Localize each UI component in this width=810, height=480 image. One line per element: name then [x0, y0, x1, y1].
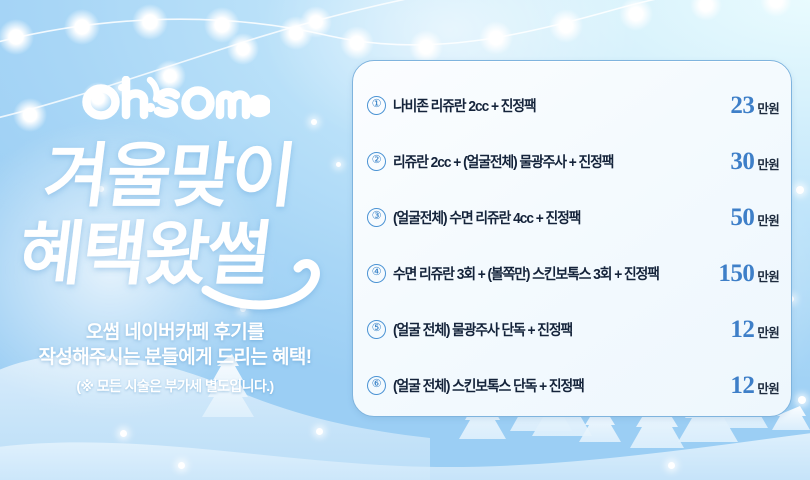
item-price-number: 50 — [730, 205, 754, 230]
item-price-unit: 만원 — [757, 210, 779, 229]
item-number-badge: ③ — [367, 208, 386, 227]
item-price-number: 12 — [730, 317, 754, 342]
promo-item-row[interactable]: ⑥ (얼굴 전체) 스킨보톡스 단독 + 진정팩 12 만원 — [367, 370, 779, 400]
item-price-unit: 만원 — [757, 154, 779, 173]
item-label: 수면 리쥬란 3회 + (볼쪽만) 스킨보톡스 3회 + 진정팩 — [393, 263, 696, 284]
item-price: 50 만원 — [730, 205, 779, 230]
brand-logo: Oh!some — [0, 76, 350, 124]
promo-item-row[interactable]: ① 나비존 리쥬란 2cc + 진정팩 23 만원 — [367, 90, 779, 120]
item-price-number: 23 — [730, 93, 754, 118]
promo-item-row[interactable]: ② 리쥬란 2cc + (얼굴전체) 물광주사 + 진정팩 30 만원 — [367, 146, 779, 176]
item-number-badge: ⑥ — [367, 376, 386, 395]
headline-line1-text: 겨울맞이 — [40, 136, 299, 215]
item-number-badge: ④ — [367, 264, 386, 283]
headline-artwork: 겨울맞이 혜택왔썰 — [10, 128, 340, 318]
item-price-number: 12 — [730, 373, 754, 398]
item-price: 12 만원 — [730, 317, 779, 342]
item-number-badge: ⑤ — [367, 320, 386, 339]
item-price: 150 만원 — [718, 261, 779, 286]
promo-panel: ① 나비존 리쥬란 2cc + 진정팩 23 만원 ② 리쥬란 2cc + (얼… — [352, 60, 792, 417]
item-price-unit: 만원 — [757, 266, 779, 285]
left-content-column: Oh!some 겨울맞이 혜택왔썰 오썸 네이버카페 후기를 작성해주시는 분들… — [0, 0, 350, 480]
item-label: (얼굴 전체) 스킨보톡스 단독 + 진정팩 — [393, 375, 708, 396]
promo-banner: Oh!some 겨울맞이 혜택왔썰 오썸 네이버카페 후기를 작성해주시는 분들… — [0, 0, 810, 480]
headline: 겨울맞이 혜택왔썰 — [0, 128, 350, 318]
item-label: 나비존 리쥬란 2cc + 진정팩 — [393, 95, 708, 116]
item-price-unit: 만원 — [757, 98, 779, 117]
subtitle-note: (※ 모든 시술은 부가세 별도입니다.) — [0, 377, 350, 395]
subtitle-line-1: 오썸 네이버카페 후기를 — [0, 320, 350, 345]
promo-item-row[interactable]: ⑤ (얼굴 전체) 물광주사 단독 + 진정팩 12 만원 — [367, 314, 779, 344]
ohsome-logo-icon — [80, 76, 270, 122]
item-price: 30 만원 — [730, 149, 779, 174]
promo-item-row[interactable]: ④ 수면 리쥬란 3회 + (볼쪽만) 스킨보톡스 3회 + 진정팩 150 만… — [367, 258, 779, 288]
promo-item-row[interactable]: ③ (얼굴전체) 수면 리쥬란 4cc + 진정팩 50 만원 — [367, 202, 779, 232]
headline-line2-text: 혜택왔썰 — [15, 214, 274, 293]
item-price-unit: 만원 — [757, 378, 779, 397]
item-label: 리쥬란 2cc + (얼굴전체) 물광주사 + 진정팩 — [393, 151, 708, 172]
item-label: (얼굴전체) 수면 리쥬란 4cc + 진정팩 — [393, 207, 708, 228]
item-price-unit: 만원 — [757, 322, 779, 341]
item-price: 12 만원 — [730, 373, 779, 398]
item-number-badge: ② — [367, 152, 386, 171]
item-number-badge: ① — [367, 96, 386, 115]
subtitle-block: 오썸 네이버카페 후기를 작성해주시는 분들에게 드리는 혜택! (※ 모든 시… — [0, 320, 350, 395]
subtitle-line-2: 작성해주시는 분들에게 드리는 혜택! — [0, 345, 350, 370]
item-label: (얼굴 전체) 물광주사 단독 + 진정팩 — [393, 319, 708, 340]
item-price-number: 30 — [730, 149, 754, 174]
item-price-number: 150 — [718, 261, 754, 286]
promo-item-list: ① 나비존 리쥬란 2cc + 진정팩 23 만원 ② 리쥬란 2cc + (얼… — [353, 61, 791, 416]
item-price: 23 만원 — [730, 93, 779, 118]
